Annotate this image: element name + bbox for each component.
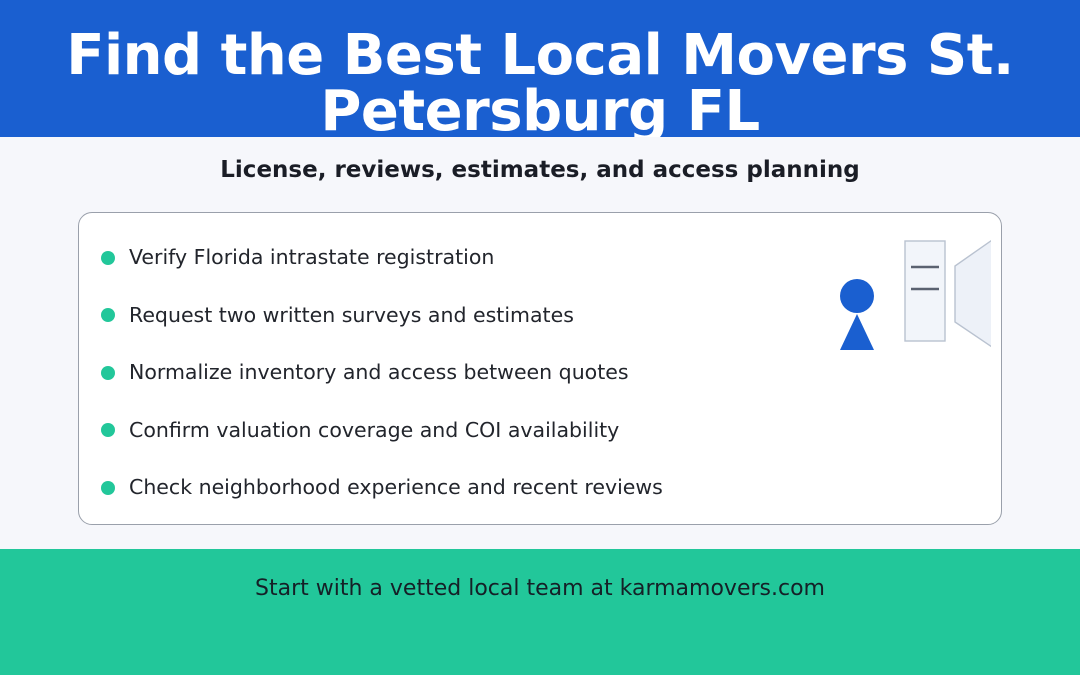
- list-item-label: Confirm valuation coverage and COI avail…: [129, 418, 619, 443]
- bullet-dot-icon: [101, 481, 115, 495]
- list-item: Normalize inventory and access between q…: [101, 344, 741, 402]
- person-figure-icon: [840, 279, 874, 350]
- document-sheet-icon: [905, 241, 945, 341]
- list-item-label: Verify Florida intrastate registration: [129, 245, 494, 270]
- list-item-label: Request two written surveys and estimate…: [129, 303, 574, 328]
- page-title: Find the Best Local Movers St. Petersbur…: [0, 28, 1080, 137]
- decorative-illustration: [746, 226, 991, 376]
- checklist: Verify Florida intrastate registration R…: [101, 229, 741, 517]
- page-subtitle: License, reviews, estimates, and access …: [0, 157, 1080, 185]
- bullet-dot-icon: [101, 308, 115, 322]
- header-band: Find the Best Local Movers St. Petersbur…: [0, 0, 1080, 137]
- list-item: Request two written surveys and estimate…: [101, 287, 741, 345]
- list-item: Confirm valuation coverage and COI avail…: [101, 402, 741, 460]
- bullet-dot-icon: [101, 423, 115, 437]
- list-item-label: Check neighborhood experience and recent…: [129, 475, 663, 500]
- bullet-dot-icon: [101, 251, 115, 265]
- checklist-card: Verify Florida intrastate registration R…: [78, 212, 1002, 525]
- bullet-dot-icon: [101, 366, 115, 380]
- list-item: Check neighborhood experience and recent…: [101, 459, 741, 517]
- hexagon-badge-icon: [955, 238, 991, 349]
- footer-cta-text: Start with a vetted local team at karmam…: [0, 576, 1080, 602]
- footer-band: Start with a vetted local team at karmam…: [0, 549, 1080, 675]
- list-item-label: Normalize inventory and access between q…: [129, 360, 629, 385]
- list-item: Verify Florida intrastate registration: [101, 229, 741, 287]
